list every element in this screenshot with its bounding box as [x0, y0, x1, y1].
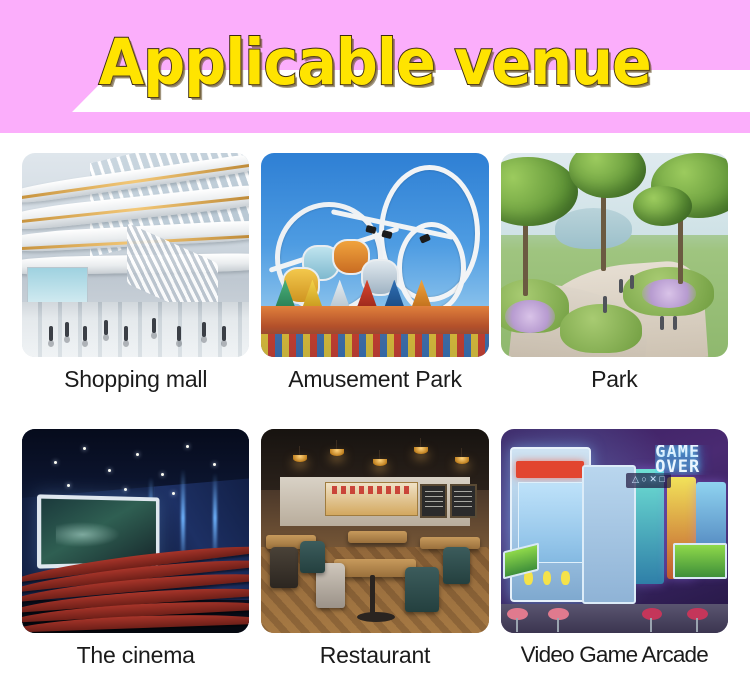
ceiling-light — [186, 445, 189, 448]
dining-chair — [443, 547, 470, 584]
table-leg — [370, 575, 375, 616]
meadow-shrub — [560, 304, 642, 353]
park-visitor — [660, 316, 664, 330]
dining-chair — [405, 567, 439, 612]
venue-card-restaurant[interactable]: Restaurant — [261, 429, 488, 696]
plush-prize — [543, 571, 552, 585]
shopper-figure — [222, 326, 226, 341]
pendant-light — [455, 457, 469, 464]
arcade-photo: △ ○ ✕ □ GAME OVER — [501, 429, 728, 633]
venue-label-shopping-mall: Shopping mall — [64, 364, 207, 394]
dining-chair — [300, 541, 325, 574]
lake — [555, 208, 632, 249]
tree-canopy — [633, 186, 692, 227]
menu-chalkboard — [420, 484, 447, 519]
venue-card-video-game-arcade[interactable]: △ ○ ✕ □ GAME OVER Video Game Arcade — [501, 429, 728, 696]
cinema-photo — [22, 429, 249, 633]
shopper-figure — [152, 318, 156, 333]
game-screen — [673, 543, 727, 580]
park-visitor — [603, 296, 607, 313]
park-visitor — [673, 316, 677, 330]
shopper-figure — [65, 322, 69, 337]
venue-card-amusement-park[interactable]: Amusement Park — [261, 153, 488, 421]
ceiling-light — [172, 492, 175, 495]
shopper-figure — [202, 322, 206, 337]
venue-card-shopping-mall[interactable]: Shopping mall — [22, 153, 249, 421]
flower-cluster — [642, 279, 697, 308]
mall-floor — [22, 302, 249, 357]
flower-cluster — [505, 300, 555, 333]
venue-label-video-game-arcade: Video Game Arcade — [521, 640, 708, 670]
venue-label-park: Park — [591, 364, 638, 394]
arcade-stool — [687, 608, 707, 620]
pendant-light — [330, 449, 344, 456]
pendant-light — [414, 447, 428, 454]
coaster-loop — [397, 222, 466, 314]
ufo-catcher-claw-machine — [510, 447, 591, 602]
park-visitor — [630, 275, 634, 289]
ride-platform — [261, 306, 488, 357]
venue-grid: Shopping mall Amusement Park — [0, 133, 750, 696]
menu-chalkboard — [450, 484, 477, 519]
venue-card-the-cinema[interactable]: The cinema — [22, 429, 249, 696]
tree-trunk — [601, 194, 606, 272]
restaurant-photo — [261, 429, 488, 633]
neon-line-2: OVER — [655, 460, 723, 475]
park-visitor — [619, 279, 623, 293]
shopper-figure — [124, 326, 128, 341]
game-over-neon-sign: GAME OVER — [655, 445, 723, 476]
page-title: Applicable venue — [99, 31, 651, 94]
ceiling-light — [124, 488, 127, 491]
page-title-container: Applicable venue — [0, 0, 750, 133]
plush-prize — [561, 571, 570, 585]
venue-label-the-cinema: The cinema — [77, 640, 195, 670]
ceiling-light — [54, 461, 57, 464]
venue-card-park[interactable]: Park — [501, 153, 728, 421]
park-photo — [501, 153, 728, 357]
shopper-figure — [177, 326, 181, 341]
page-header: Applicable venue — [0, 0, 750, 133]
shopper-figure — [83, 326, 87, 341]
dining-table — [334, 559, 416, 577]
dining-chair — [270, 547, 297, 588]
shopper-figure — [104, 320, 108, 335]
claw-machine-marquee — [516, 461, 584, 478]
ceiling-light — [136, 453, 139, 456]
counter-sign — [332, 486, 409, 494]
shopping-mall-photo — [22, 153, 249, 357]
amusement-park-photo — [261, 153, 488, 357]
shopper-figure — [49, 326, 53, 341]
venue-label-amusement-park: Amusement Park — [288, 364, 462, 394]
pendant-light — [373, 459, 387, 466]
venue-label-restaurant: Restaurant — [320, 640, 431, 670]
dining-table — [348, 531, 407, 543]
playstation-symbols-sign: △ ○ ✕ □ — [626, 473, 671, 487]
